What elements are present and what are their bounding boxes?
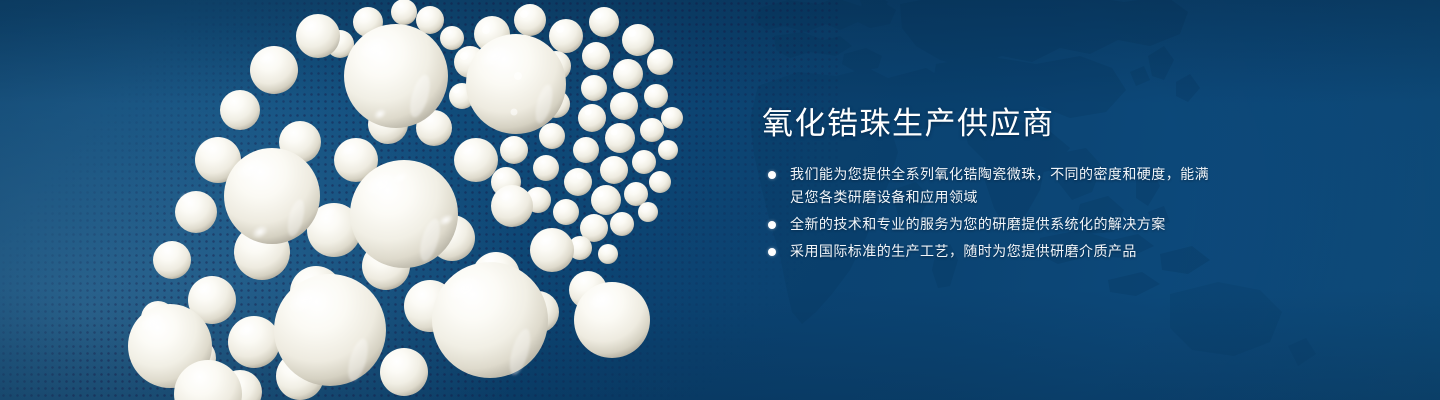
bullet-dot-icon xyxy=(768,221,776,229)
banner-copy: 氧化锆珠生产供应商 我们能为您提供全系列氧化锆陶瓷微珠，不同的密度和硬度，能满足… xyxy=(762,104,1402,263)
hero-banner: 氧化锆珠生产供应商 我们能为您提供全系列氧化锆陶瓷微珠，不同的密度和硬度，能满足… xyxy=(0,0,1440,400)
bullet-dot-icon xyxy=(768,248,776,256)
feature-bullet-list: 我们能为您提供全系列氧化锆陶瓷微珠，不同的密度和硬度，能满足您各类研磨设备和应用… xyxy=(762,163,1402,263)
feature-bullet-2-text: 全新的技术和专业的服务为您的研磨提供系统化的解决方案 xyxy=(790,213,1220,236)
feature-bullet-2: 全新的技术和专业的服务为您的研磨提供系统化的解决方案 xyxy=(762,213,1402,236)
zirconia-bead-cluster-image xyxy=(0,0,760,400)
bullet-dot-icon xyxy=(768,171,776,179)
feature-bullet-1: 我们能为您提供全系列氧化锆陶瓷微珠，不同的密度和硬度，能满足您各类研磨设备和应用… xyxy=(762,163,1402,209)
feature-bullet-1-text: 我们能为您提供全系列氧化锆陶瓷微珠，不同的密度和硬度，能满足您各类研磨设备和应用… xyxy=(790,163,1220,209)
banner-title: 氧化锆珠生产供应商 xyxy=(762,104,1402,144)
feature-bullet-3-text: 采用国际标准的生产工艺，随时为您提供研磨介质产品 xyxy=(790,240,1220,263)
feature-bullet-3: 采用国际标准的生产工艺，随时为您提供研磨介质产品 xyxy=(762,240,1402,263)
